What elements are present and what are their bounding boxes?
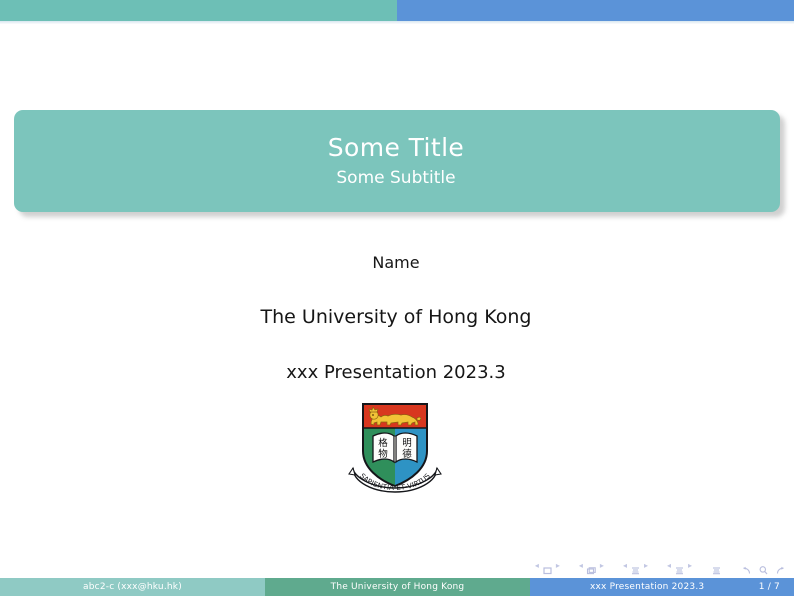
doc-icon[interactable] [711,561,722,572]
footer-bar: abc2-c (xxx@hku.hk) The University of Ho… [0,578,794,596]
prev-frame-icon[interactable]: ◂ [579,562,583,570]
svg-text:德: 德 [402,448,412,460]
header-bar-right-segment [397,0,794,21]
prev-section-icon[interactable]: ◂ [667,562,671,570]
nav-group-slide[interactable]: ◂ ▸ [535,561,560,572]
nav-group-frame[interactable]: ◂ ▸ [579,561,604,572]
next-slide-icon[interactable]: ▸ [556,562,560,570]
slide-icon[interactable] [542,561,553,572]
footer-date: xxx Presentation 2023.3 [590,582,704,592]
header-bar [0,0,794,21]
search-icon[interactable] [758,561,769,572]
nav-group-subsection[interactable]: ◂ ▸ [623,561,648,572]
svg-text:物: 物 [378,448,388,460]
next-frame-icon[interactable]: ▸ [600,562,604,570]
presentation-date: xxx Presentation 2023.3 [0,362,794,383]
svg-text:明: 明 [402,438,412,449]
institute-name: The University of Hong Kong [0,306,794,328]
back-icon[interactable] [741,561,752,572]
header-bar-underline [0,21,794,24]
prev-slide-icon[interactable]: ◂ [535,562,539,570]
title-slide-metadata: Name The University of Hong Kong xxx Pre… [0,245,794,383]
hku-coat-of-arms-icon: 格 物 明 德 SAPIENTIA·ET·VIRTUS [345,396,445,496]
author-name: Name [0,253,794,272]
slide-title: Some Title [328,134,464,162]
footer-institute: The University of Hong Kong [265,578,530,596]
title-block: Some Title Some Subtitle [14,110,780,212]
nav-group-section[interactable]: ◂ ▸ [667,561,692,572]
footer-date-cell: xxx Presentation 2023.3 1 / 7 [530,578,794,596]
beamer-navigation-symbols[interactable]: ◂ ▸ ◂ ▸ ◂ [490,558,786,574]
next-section-icon[interactable]: ▸ [688,562,692,570]
footer-page-number: 1 / 7 [759,578,780,596]
presentation-title-slide: Some Title Some Subtitle Name The Univer… [0,0,794,596]
header-bar-left-segment [0,0,397,21]
prev-subsection-icon[interactable]: ◂ [623,562,627,570]
section-icon[interactable] [674,561,685,572]
frame-icon[interactable] [586,561,597,572]
subsection-icon[interactable] [630,561,641,572]
next-subsection-icon[interactable]: ▸ [644,562,648,570]
svg-text:格: 格 [378,437,388,449]
slide-subtitle: Some Subtitle [336,169,455,188]
title-block-wrapper: Some Title Some Subtitle [14,110,780,212]
forward-icon[interactable] [775,561,786,572]
footer-author: abc2-c (xxx@hku.hk) [0,578,265,596]
